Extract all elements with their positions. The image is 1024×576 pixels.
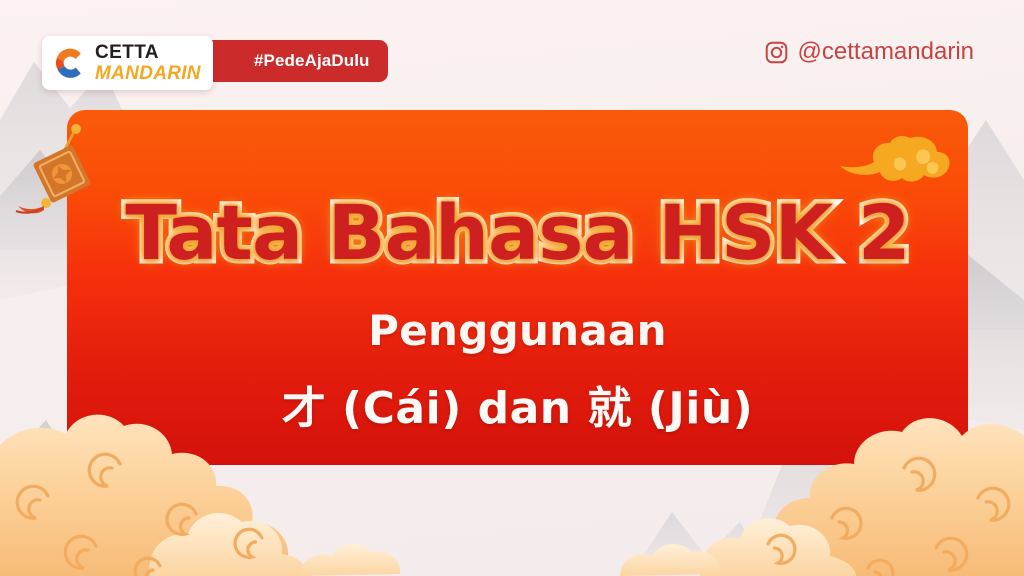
page-subtitle: Penggunaan [67,306,968,355]
brand-wordmark: CETTA MANDARIN [95,43,201,83]
brand-bar: #PedeAjaDulu CETTA MANDARIN [42,36,213,90]
main-content-card: Tata Bahasa HSK 2 Penggunaan 才 (Cái) dan… [67,110,968,465]
chinese-topic-line: 才 (Cái) dan 就 (Jiù) [67,372,968,436]
page-title: Tata Bahasa HSK 2 [67,188,968,277]
instagram-handle[interactable]: @cettamandarin [764,38,974,66]
brand-logo-card: CETTA MANDARIN [42,36,213,90]
instagram-handle-label: @cettamandarin [798,38,974,66]
chinese-hanging-charm-icon [14,118,114,228]
cetta-c-logo-icon [51,45,87,81]
hashtag-badge: #PedeAjaDulu [192,40,388,82]
brand-name-line1: CETTA [95,43,201,62]
slide-canvas: #PedeAjaDulu CETTA MANDARIN [0,0,1024,576]
hashtag-label: #PedeAjaDulu [254,51,370,71]
brand-name-line2: MANDARIN [95,64,201,83]
instagram-icon [764,40,789,65]
